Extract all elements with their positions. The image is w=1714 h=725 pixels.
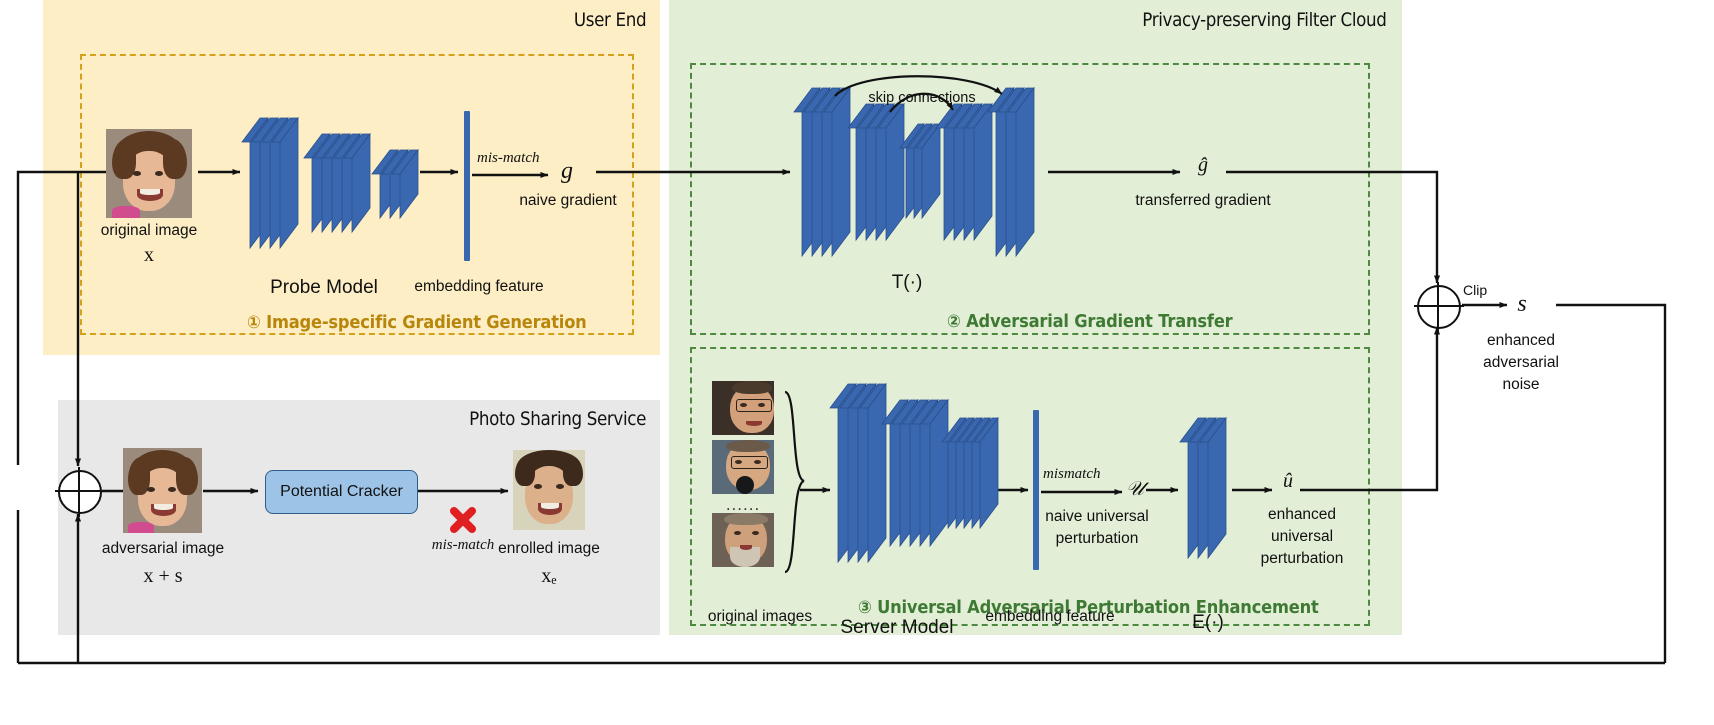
naive-gradient-symbol: g <box>561 158 573 185</box>
adversarial-image-symbol: x + s <box>143 565 182 588</box>
face-adversarial-image <box>123 448 202 533</box>
left-sum-operator <box>58 470 102 514</box>
clip-sum-operator <box>1417 285 1461 329</box>
original-image-symbol: x <box>144 244 154 267</box>
diagram-canvas: User End Privacy-preserving Filter Cloud… <box>0 0 1714 725</box>
transfer-network-T <box>790 82 1030 272</box>
naive-gradient-caption: naive gradient <box>519 192 616 210</box>
enhanced-universal-perturbation-caption-3: perturbation <box>1261 550 1344 568</box>
probe-model-network <box>238 96 420 264</box>
enhancement-function-label: E(·) <box>1192 612 1224 634</box>
embedding-feature-label-stage1: embedding feature <box>414 278 543 296</box>
mismatch-label-stage1: mis-match <box>477 150 540 167</box>
images-grouping-brace <box>782 390 808 575</box>
naive-universal-perturbation-caption-1: naive universal <box>1045 508 1148 526</box>
enhanced-noise-caption-2: adversarial <box>1483 354 1559 372</box>
server-model-label: Server Model <box>841 617 954 639</box>
original-image-label: original image <box>101 222 198 240</box>
probe-model-label: Probe Model <box>270 277 378 299</box>
enrolled-image-symbol: xₑ <box>541 565 556 588</box>
mismatch-label-stage3: mismatch <box>1043 466 1101 483</box>
mismatch-x-icon <box>448 505 478 535</box>
transferred-gradient-symbol: ĝ <box>1198 154 1208 177</box>
mismatch-label-photo: mis-match <box>432 537 495 554</box>
transfer-function-label: T(·) <box>892 272 923 294</box>
transferred-gradient-caption: transferred gradient <box>1135 192 1270 210</box>
enhanced-universal-perturbation-symbol: û <box>1283 470 1293 493</box>
server-model-network <box>826 380 998 580</box>
enhancement-network-E <box>1178 412 1236 572</box>
enrolled-image-label: enrolled image <box>498 540 600 558</box>
embedding-feature-label-stage3: embedding feature <box>985 608 1114 626</box>
adversarial-image-label: adversarial image <box>102 540 224 558</box>
potential-cracker-box[interactable]: Potential Cracker <box>265 470 418 514</box>
enhanced-noise-caption-3: noise <box>1502 376 1539 394</box>
naive-universal-perturbation-symbol: 𝒰 <box>1126 478 1144 501</box>
potential-cracker-label: Potential Cracker <box>280 483 403 501</box>
enhanced-noise-caption-1: enhanced <box>1487 332 1555 350</box>
original-images-ellipsis: ...... <box>726 495 760 515</box>
face-original-image-3 <box>712 513 774 567</box>
naive-universal-perturbation-caption-2: perturbation <box>1056 530 1139 548</box>
enhanced-universal-perturbation-caption-1: enhanced <box>1268 506 1336 524</box>
face-original-image-1 <box>712 381 774 435</box>
embedding-feature-bar-stage1 <box>464 111 470 261</box>
face-original-image-2 <box>712 440 774 494</box>
face-enrolled-image <box>513 450 585 530</box>
embedding-feature-bar-stage3 <box>1033 410 1039 570</box>
clip-label: Clip <box>1463 282 1487 298</box>
original-images-label: original images <box>708 608 812 626</box>
skip-connections-label: skip connections <box>868 90 975 106</box>
enhanced-noise-symbol: s <box>1517 291 1526 318</box>
face-original-image <box>106 129 192 218</box>
enhanced-universal-perturbation-caption-2: universal <box>1271 528 1333 546</box>
